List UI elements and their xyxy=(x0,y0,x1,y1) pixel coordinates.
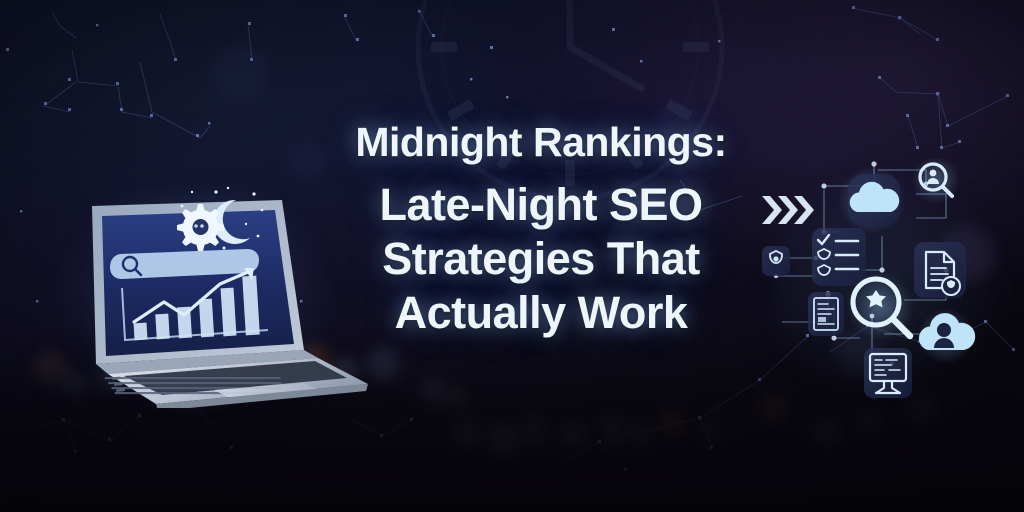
gear-icon xyxy=(177,204,224,251)
headline-line-2: Late-Night SEO xyxy=(306,178,776,232)
article-card-icon xyxy=(808,292,844,336)
document-shield-icon xyxy=(914,242,966,298)
headline-line-1: Midnight Rankings: xyxy=(306,118,776,166)
banner-canvas: Midnight Rankings: Late-Night SEO Strate… xyxy=(0,0,1024,512)
headline-line-4: Actually Work xyxy=(306,286,776,340)
monitor-code-icon xyxy=(864,348,912,398)
user-cloud-icon xyxy=(918,308,975,364)
gear-moon-badge xyxy=(158,186,270,268)
cloud-icon xyxy=(838,166,906,234)
magnifier-person-icon xyxy=(912,158,960,204)
headline-line-3: Strategies That xyxy=(306,232,776,286)
headline-block: Midnight Rankings: Late-Night SEO Strate… xyxy=(306,118,776,340)
checklist-shield-icon xyxy=(812,228,866,286)
seo-icon-network xyxy=(756,158,1018,408)
crescent-moon-icon xyxy=(213,200,250,244)
magnifier-star-icon xyxy=(846,272,914,340)
